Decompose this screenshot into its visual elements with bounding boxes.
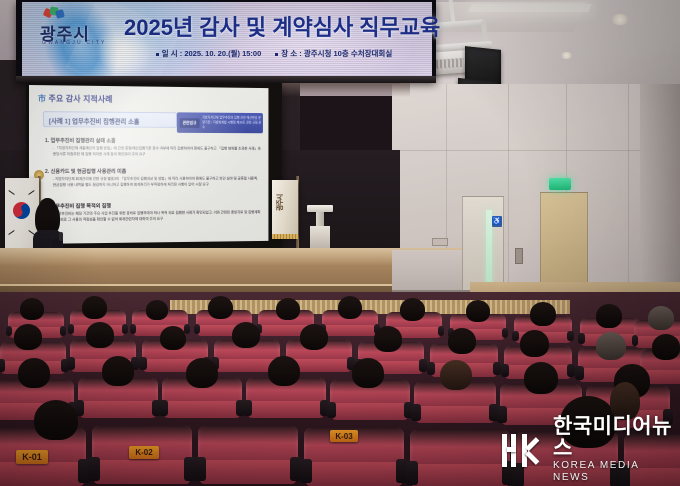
attendee-head	[186, 358, 218, 388]
attendee-head	[530, 302, 556, 326]
banner-city-logo-subtext: GWANGJU CITY	[42, 40, 107, 46]
seat-tag: K-02	[129, 446, 159, 459]
attendee-head	[338, 296, 362, 319]
attendee-head	[520, 330, 549, 357]
attendee-head	[82, 296, 107, 319]
seat[interactable]	[198, 426, 298, 484]
attendee-head	[466, 300, 490, 322]
seat-tag: K-03	[330, 430, 358, 442]
accessibility-icon: ♿	[492, 216, 502, 227]
slide-item-body: - 「지방자치단체 세출예산의 집행 방법」에 관한 훈령/예산집행기준 준수 …	[53, 146, 261, 157]
auditorium-photo: 광주시 GWANGJU CITY 2025년 감사 및 계약심사 직무교육 일 …	[0, 0, 680, 486]
hk-monogram-icon	[500, 430, 546, 470]
attendee-head	[648, 306, 674, 330]
city-flag-emblem-text: 광주시	[277, 197, 293, 211]
banner-title: 2025년 감사 및 계약심사 직무교육	[124, 10, 424, 42]
lectern-top	[307, 205, 333, 212]
attendee-head	[208, 296, 233, 319]
attendee-head	[86, 322, 114, 348]
banner-place: 장 소 : 광주시청 10층 수처장대회실	[275, 48, 392, 59]
attendee-head	[374, 326, 402, 352]
ceiling-light-strip	[468, 4, 591, 12]
microphone-icon	[59, 232, 63, 241]
wall-control-box[interactable]	[515, 248, 523, 264]
attendee-head	[34, 400, 78, 440]
presenter-head	[39, 198, 56, 217]
attendee-head	[448, 328, 476, 354]
slide-case-label: [사례 1] 업무추진비 집행관리 소홀	[49, 115, 140, 126]
attendee-head	[596, 304, 622, 328]
attendee-head	[268, 356, 300, 386]
slide-title: 市 주요 감사 지적사례	[38, 93, 113, 105]
exit-sign-icon	[549, 178, 571, 190]
attendee-head	[18, 358, 50, 388]
seat-tag: K-01	[16, 450, 48, 464]
attendee-head	[276, 298, 300, 320]
attendee-head	[400, 298, 425, 321]
watermark-english: KOREA MEDIA NEWS	[553, 460, 672, 484]
projection-slide: 市 주요 감사 지적사례 [사례 1] 업무추진비 집행관리 소홀 관련법규 지…	[29, 85, 268, 244]
slide-title-mark: 市	[38, 94, 46, 103]
slide-callout-tag: 관련법규	[180, 118, 200, 128]
slide-item-heading: 2. 신용카드 및 현금집행 사용관리 미흡	[45, 168, 126, 175]
right-column	[640, 84, 680, 314]
attendee-head	[232, 322, 260, 348]
lectern	[310, 226, 330, 250]
attendee-head	[300, 324, 328, 350]
city-flag-fringe	[272, 234, 298, 239]
slide-item-body: - 지방자치단체 회계관리에 관한 규정 별표3의 「업무추진비 집행대상 및 …	[53, 177, 261, 189]
wall-seam	[392, 150, 680, 151]
seat[interactable]	[410, 430, 510, 486]
lectern-stem	[316, 212, 324, 226]
attendee-head	[14, 324, 42, 350]
bullet-icon	[156, 53, 159, 56]
banner-subtitle-row: 일 시 : 2025. 10. 20.(월) 15:00 장 소 : 광주시청 …	[124, 48, 424, 59]
gwangju-logo-icon	[44, 7, 64, 21]
attendee-head	[652, 334, 680, 360]
attendee-head	[20, 298, 44, 320]
watermark: 한국미디어뉴스 KOREA MEDIA NEWS	[500, 424, 672, 476]
downlight-icon	[610, 14, 630, 25]
wall-outlet	[432, 238, 448, 246]
attendee-head	[596, 332, 626, 360]
banner-date: 일 시 : 2025. 10. 20.(월) 15:00	[156, 48, 262, 59]
attendee-head	[160, 326, 186, 350]
slide-callout-box: 관련법규 지방자치단체 업무추진비 집행 관련 예산편성 운영기준 / 지방회계…	[177, 112, 263, 133]
slide-title-text: 주요 감사 지적사례	[46, 94, 112, 104]
bullet-icon	[275, 53, 278, 56]
slide-item-body: - 업무추진비는 해당 기관의 주요 사업 추진을 위한 경비로 집행하여야 하…	[53, 210, 261, 223]
slide-item-heading: 1. 업무추진비 집행관리 실태 소홀	[45, 137, 116, 144]
attendee-head	[352, 358, 384, 388]
attendee-head	[102, 356, 134, 386]
slide-callout-text: 지방자치단체 업무추진비 집행 관련 예산편성 운영기준 / 지방회계법 시행령…	[202, 115, 263, 130]
led-banner-bottom-bezel	[16, 76, 436, 83]
attendee-head	[440, 360, 472, 390]
attendee-head	[146, 300, 168, 320]
downlight-icon	[560, 52, 573, 59]
watermark-text: 한국미디어뉴스 KOREA MEDIA NEWS	[553, 416, 672, 484]
slide-case-label-box: [사례 1] 업무추진비 집행관리 소홀	[43, 111, 177, 128]
attendee-head	[524, 362, 558, 394]
watermark-korean: 한국미디어뉴스	[553, 416, 672, 460]
